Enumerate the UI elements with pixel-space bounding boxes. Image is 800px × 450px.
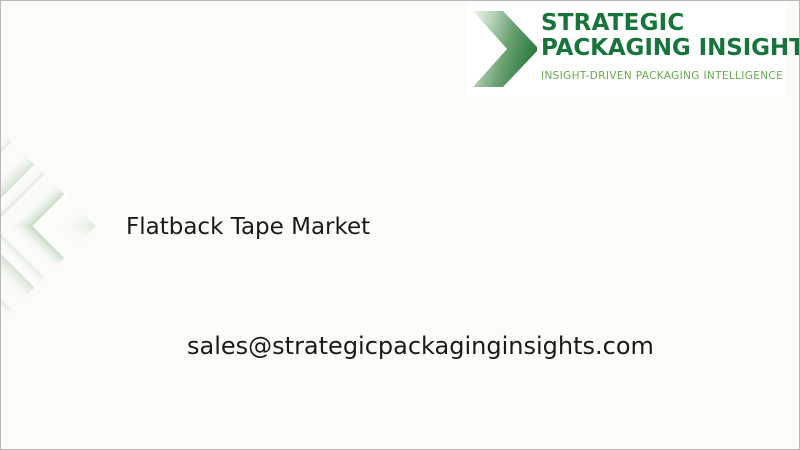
presentation-slide: STRATEGIC PACKAGING INSIGHTS INSIGHT-DRI… [0,0,800,450]
logo-tagline: INSIGHT-DRIVEN PACKAGING INTELLIGENCE [541,70,800,82]
logo-text-block: STRATEGIC PACKAGING INSIGHTS INSIGHT-DRI… [541,3,800,82]
report-title: Flatback Tape Market [126,212,370,242]
logo-line-2: PACKAGING INSIGHTS [541,36,800,61]
company-logo: STRATEGIC PACKAGING INSIGHTS INSIGHT-DRI… [467,3,787,96]
contact-email: sales@strategicpackaginginsights.com [187,330,654,362]
logo-line-1: STRATEGIC [541,11,800,36]
chevron-arrow-logo-mark-icon [467,6,541,92]
